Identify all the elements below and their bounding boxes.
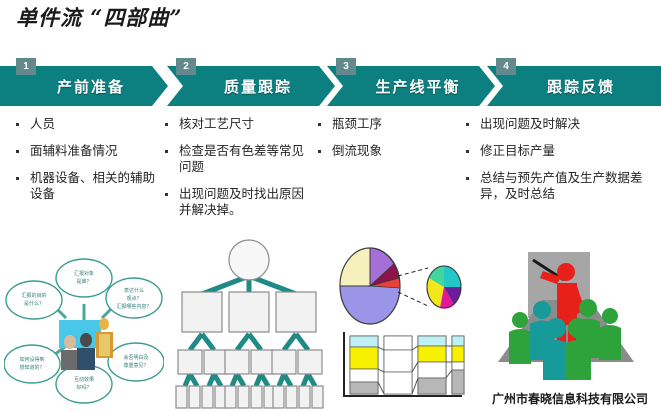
- bullet-item: 核对工艺尺寸: [163, 116, 315, 132]
- step-badge-2: 2: [176, 58, 196, 75]
- svg-text:互动效果: 互动效果: [74, 376, 94, 383]
- bullet-columns: 人员 面辅料准备情况 机器设备、相关的辅助设备 核对工艺尺寸 检查是否有色差等常…: [0, 116, 661, 236]
- illustration-mindmap-meeting: 汇报对象是谁？ 汇报的目的是什么？ 表达什么观点？汇报哪些内容？ 如何设得到想知…: [4, 242, 164, 410]
- svg-text:是什么？: 是什么？: [24, 300, 44, 307]
- step-badge-4: 4: [496, 58, 516, 75]
- svg-text:表达什么: 表达什么: [124, 287, 144, 294]
- stacked-bar-chart: [344, 332, 464, 396]
- svg-text:会否明白及: 会否明白及: [123, 354, 148, 361]
- process-step-3-label: 生产线平衡: [361, 76, 460, 97]
- step-badge-1: 1: [16, 58, 36, 75]
- bullet-item: 面辅料准备情况: [14, 143, 164, 159]
- svg-text:是谁？: 是谁？: [76, 278, 91, 285]
- bullet-item: 出现问题及时解决: [464, 116, 654, 132]
- bullet-item: 倒流现象: [316, 143, 461, 159]
- pie-chart-main: [340, 248, 400, 324]
- bullet-item: 出现问题及时找出原因并解决掉。: [163, 186, 315, 218]
- svg-text:汇报对象: 汇报对象: [74, 270, 94, 277]
- bullet-column-4: 出现问题及时解决 修正目标产量 总结与预先产值及生产数据差异，及时总结: [464, 116, 654, 213]
- svg-text:好吗？: 好吗？: [76, 384, 91, 391]
- bullet-column-2: 核对工艺尺寸 检查是否有色差等常见问题 出现问题及时找出原因并解决掉。: [163, 116, 315, 229]
- svg-text:汇报哪些内容？: 汇报哪些内容？: [116, 303, 151, 310]
- process-step-2-label: 质量跟踪: [210, 76, 292, 97]
- process-step-4-label: 跟踪反馈: [533, 76, 615, 97]
- bullet-item: 瓶颈工序: [316, 116, 461, 132]
- illustration-charts: [336, 238, 468, 410]
- svg-text:想知道的？: 想知道的？: [19, 364, 44, 371]
- bullet-item: 总结与预先产值及生产数据差异，及时总结: [464, 170, 654, 202]
- svg-text:观点？: 观点？: [126, 296, 141, 302]
- svg-text:如何设得到: 如何设得到: [19, 356, 44, 363]
- svg-text:汇报的目的: 汇报的目的: [21, 292, 46, 299]
- bullet-item: 检查是否有色差等常见问题: [163, 143, 315, 175]
- svg-text:尊重意见？: 尊重意见？: [123, 362, 148, 369]
- process-banner: 产前准备 质量跟踪 生产线平衡 跟踪反馈 1 2 3 4: [0, 58, 661, 108]
- bullet-column-1: 人员 面辅料准备情况 机器设备、相关的辅助设备: [14, 116, 164, 213]
- bullet-column-3: 瓶颈工序 倒流现象: [316, 116, 461, 170]
- pie-chart-detail: [427, 266, 461, 309]
- page-title: 单件流 “四部曲”: [16, 2, 182, 32]
- illustration-training-presentation: [478, 238, 656, 388]
- bullet-item: 人员: [14, 116, 164, 132]
- company-footer: 广州市春晓信息科技有限公司: [492, 390, 648, 407]
- presentation-slide: 单件流 “四部曲” 产前准备 质量跟踪 生产线平衡 跟踪反馈 1 2 3 4 人…: [0, 0, 661, 412]
- step-badge-3: 3: [336, 58, 356, 75]
- process-step-1-label: 产前准备: [43, 76, 125, 97]
- bullet-item: 修正目标产量: [464, 143, 654, 159]
- illustration-org-tree: [170, 238, 328, 410]
- bullet-item: 机器设备、相关的辅助设备: [14, 170, 164, 202]
